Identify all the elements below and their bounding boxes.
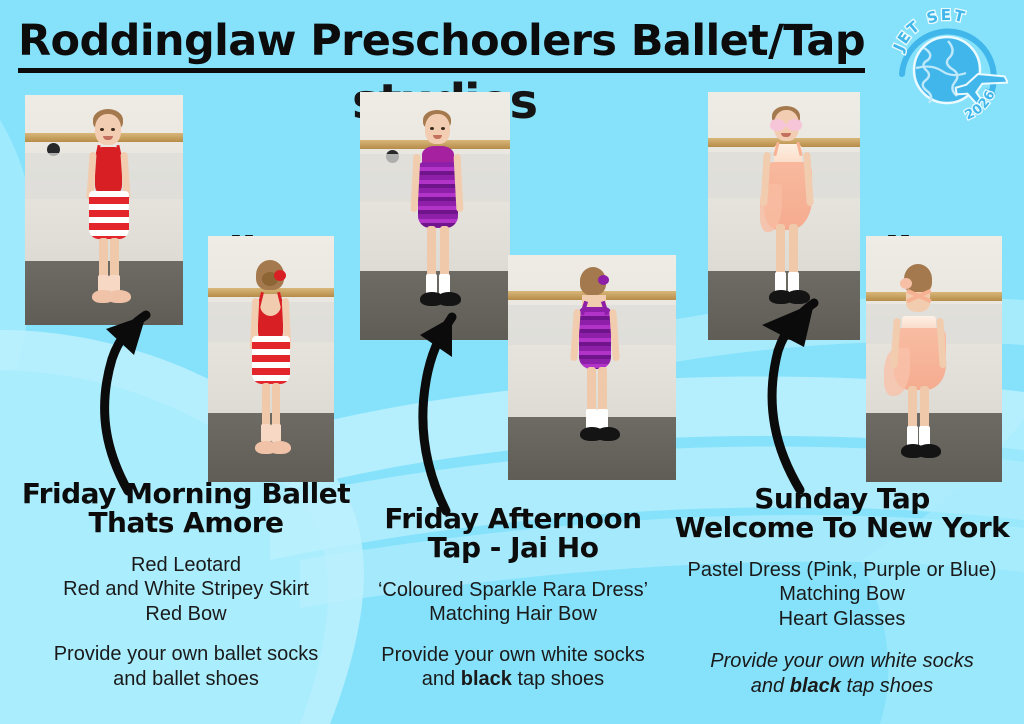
spacer xyxy=(8,626,364,642)
photo-tap-front xyxy=(360,92,510,340)
sparkle-dress xyxy=(418,162,458,228)
costume-line: Pastel Dress (Pink, Purple or Blue) xyxy=(687,559,996,581)
footwear-line-1: Provide your own white socks xyxy=(381,644,644,666)
footwear-line-2-prefix: and xyxy=(422,668,461,690)
poster-root: Roddinglaw Preschoolers Ballet/Tap JET S… xyxy=(0,0,1024,724)
caption-sunday-tap: Sunday Tap Welcome To New York Pastel Dr… xyxy=(666,485,1018,698)
black-tap-shoe xyxy=(786,290,810,304)
black-tap-shoe xyxy=(437,292,461,306)
footwear-line-2-suffix: tap shoes xyxy=(841,675,933,697)
footwear-line-2-prefix: and xyxy=(751,675,790,697)
white-sock xyxy=(439,274,450,294)
footwear-line-2-suffix: tap shoes xyxy=(512,668,604,690)
column-heading: Sunday Tap Welcome To New York xyxy=(666,485,1018,542)
costume-line: Red and White Stripey Skirt xyxy=(63,578,309,600)
costume-line: Heart Glasses xyxy=(779,608,906,630)
photo-ballet-front xyxy=(25,95,183,325)
footwear-line-1: Provide your own ballet socks xyxy=(54,643,319,665)
white-sock xyxy=(788,272,799,292)
column-body: Red Leotard Red and White Stripey Skirt … xyxy=(8,553,364,691)
column-heading: Friday Afternoon Tap - Jai Ho xyxy=(348,505,678,562)
photo-ballet-back xyxy=(208,236,334,482)
heading-line-2: Thats Amore xyxy=(88,506,283,539)
footwear-emphasis: black xyxy=(790,675,841,697)
costume-line: Red Bow xyxy=(145,603,226,625)
striped-skirt xyxy=(89,191,129,239)
column-body: ‘Coloured Sparkle Rara Dress’ Matching H… xyxy=(348,578,678,692)
costume-line: Matching Hair Bow xyxy=(429,603,597,625)
column-body: Pastel Dress (Pink, Purple or Blue) Matc… xyxy=(666,558,1018,631)
column-footwear-note: Provide your own white socks and black t… xyxy=(666,649,1018,698)
heading-line-2: Welcome To New York xyxy=(675,511,1010,544)
footwear-emphasis: black xyxy=(461,668,512,690)
red-hair-bow xyxy=(274,270,286,281)
costume-line: Red Leotard xyxy=(131,554,241,576)
white-sock xyxy=(775,272,786,292)
purple-hair-bow xyxy=(598,275,609,285)
white-sock xyxy=(426,274,437,294)
peach-hair-bow xyxy=(900,278,912,289)
page-title: Roddinglaw Preschoolers Ballet/Tap xyxy=(18,16,865,73)
heart-glasses xyxy=(770,119,785,131)
jet-set-logo: JET SET 2026 xyxy=(886,8,1008,130)
column-heading: Friday Morning Ballet Thats Amore xyxy=(8,480,364,537)
footwear-line-1: Provide your own white socks xyxy=(710,650,973,672)
costume-line: ‘Coloured Sparkle Rara Dress’ xyxy=(378,579,648,601)
photo-sunday-front xyxy=(708,92,860,340)
photo-tap-back xyxy=(508,255,676,480)
spacer xyxy=(348,627,678,643)
footwear-line-2: and ballet shoes xyxy=(113,668,259,690)
arrow-to-ballet-shoes xyxy=(50,295,190,505)
caption-friday-morning-ballet: Friday Morning Ballet Thats Amore Red Le… xyxy=(8,480,364,691)
heart-glasses xyxy=(787,119,802,131)
ballet-shoe xyxy=(107,290,131,303)
caption-friday-afternoon-tap: Friday Afternoon Tap - Jai Ho ‘Coloured … xyxy=(348,505,678,692)
photo-sunday-back xyxy=(866,236,1002,482)
heading-line-2: Tap - Jai Ho xyxy=(428,531,599,564)
costume-line: Matching Bow xyxy=(779,583,905,605)
